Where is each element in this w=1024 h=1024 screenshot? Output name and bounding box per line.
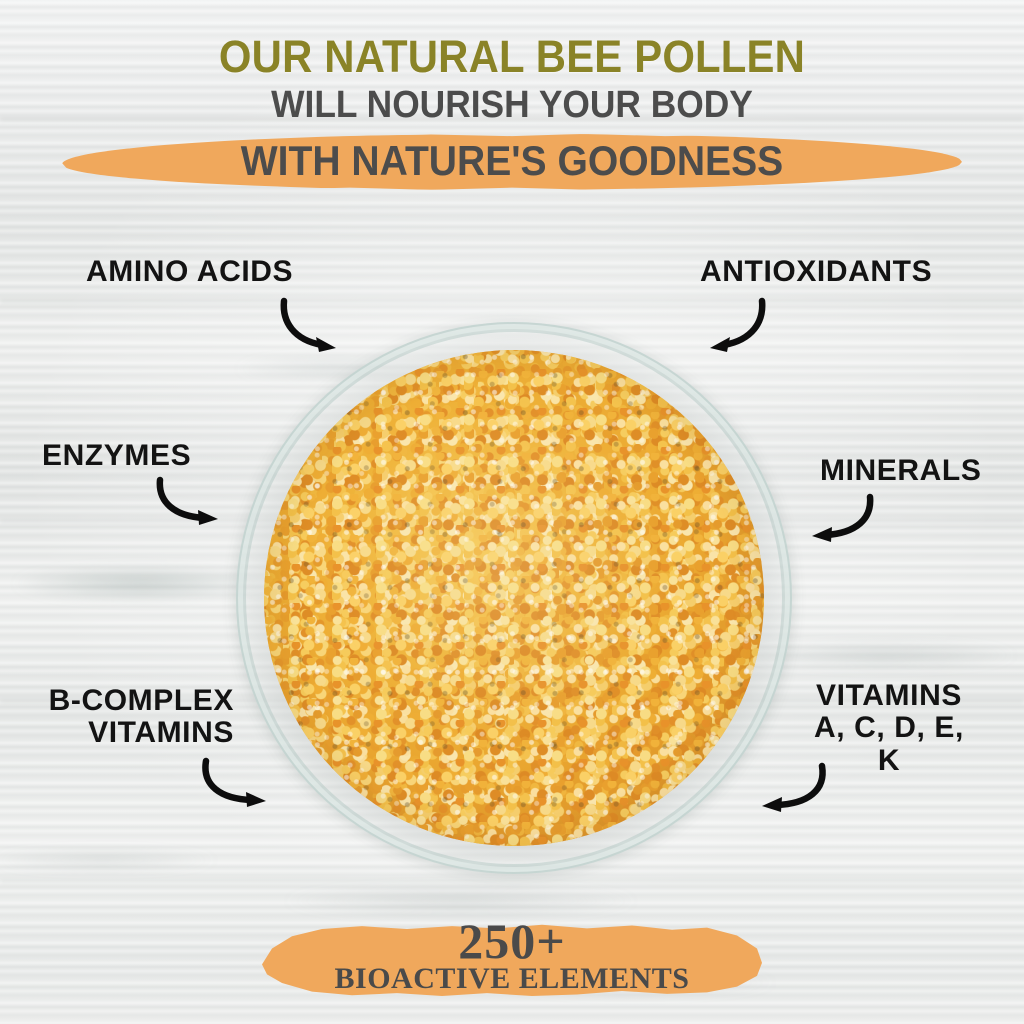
headline-banner: WITH NATURE'S GOODNESS xyxy=(0,130,1024,192)
callout-b-complex-vitamins: B-COMPLEX VITAMINS xyxy=(22,685,234,750)
curved-arrow-down-right-icon xyxy=(198,757,282,813)
badge-caption: BIOACTIVE ELEMENTS xyxy=(262,964,762,994)
callout-minerals: MINERALS xyxy=(820,455,981,487)
callout-label-enzymes: ENZYMES xyxy=(42,440,191,472)
infographic-canvas: OUR NATURAL BEE POLLEN WILL NOURISH YOUR… xyxy=(0,0,1024,1024)
callout-antioxidants: ANTIOXIDANTS xyxy=(700,256,932,288)
callout-vitamins-acdek: VITAMINS A, C, D, E, K xyxy=(798,680,980,777)
callout-label-vitamins-line-1: VITAMINS xyxy=(798,680,980,712)
callout-label-amino-acids: AMINO ACIDS xyxy=(86,256,293,288)
curved-arrow-down-right-icon xyxy=(152,476,232,532)
callout-amino-acids: AMINO ACIDS xyxy=(86,256,293,288)
bioactive-elements-badge: 250+ BIOACTIVE ELEMENTS xyxy=(262,912,762,1004)
callout-label-antioxidants: ANTIOXIDANTS xyxy=(700,256,932,288)
headline-line-3: WITH NATURE'S GOODNESS xyxy=(36,130,988,192)
callout-label-b-complex-line-2: VITAMINS xyxy=(22,717,234,749)
callout-label-vitamins-line-2: A, C, D, E, xyxy=(798,712,980,744)
curved-arrow-down-right-icon xyxy=(278,298,350,360)
callout-enzymes: ENZYMES xyxy=(42,440,191,472)
bee-pollen-bowl xyxy=(218,300,808,890)
callout-label-b-complex-line-1: B-COMPLEX xyxy=(22,685,234,717)
headline-line-2: WILL NOURISH YOUR BODY xyxy=(36,86,988,126)
headline-line-1: OUR NATURAL BEE POLLEN xyxy=(36,34,988,79)
curved-arrow-down-left-icon xyxy=(696,298,768,360)
bowl-rim-highlight xyxy=(236,322,792,874)
callout-label-minerals: MINERALS xyxy=(820,455,981,487)
curved-arrow-down-left-icon xyxy=(798,493,878,549)
curved-arrow-down-left-icon xyxy=(746,762,830,818)
badge-number: 250+ xyxy=(262,916,762,966)
headline-block: OUR NATURAL BEE POLLEN WILL NOURISH YOUR… xyxy=(0,34,1024,192)
